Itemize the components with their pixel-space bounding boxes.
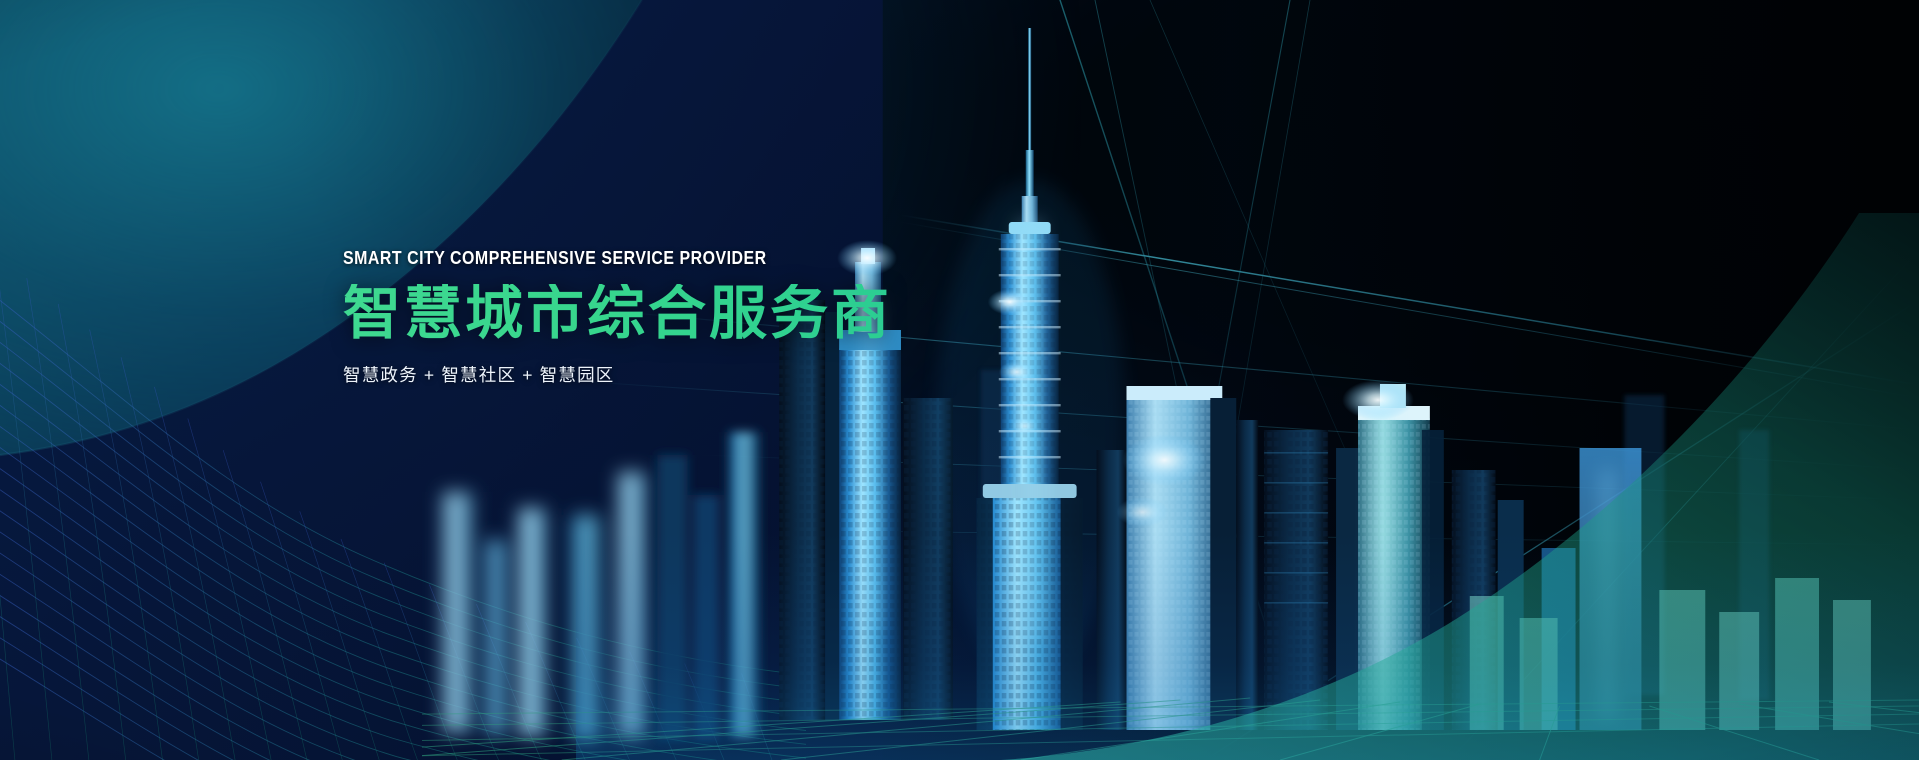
green-corner-sweep [998, 213, 1919, 760]
foreground-blurred-blocks [442, 472, 648, 740]
hero-subline-services: 智慧政务 + 智慧社区 + 智慧园区 [343, 362, 983, 387]
midground-blurred-blocks [658, 432, 762, 740]
smart-city-hero-banner: SMART CITY COMPREHENSIVE SERVICE PROVIDE… [0, 0, 1919, 760]
green-sweep-shape [998, 213, 1919, 760]
hero-eyebrow-english: SMART CITY COMPREHENSIVE SERVICE PROVIDE… [343, 249, 893, 268]
hero-headline-chinese: 智慧城市综合服务商 [343, 284, 983, 345]
hero-copy-block: SMART CITY COMPREHENSIVE SERVICE PROVIDE… [343, 249, 983, 387]
